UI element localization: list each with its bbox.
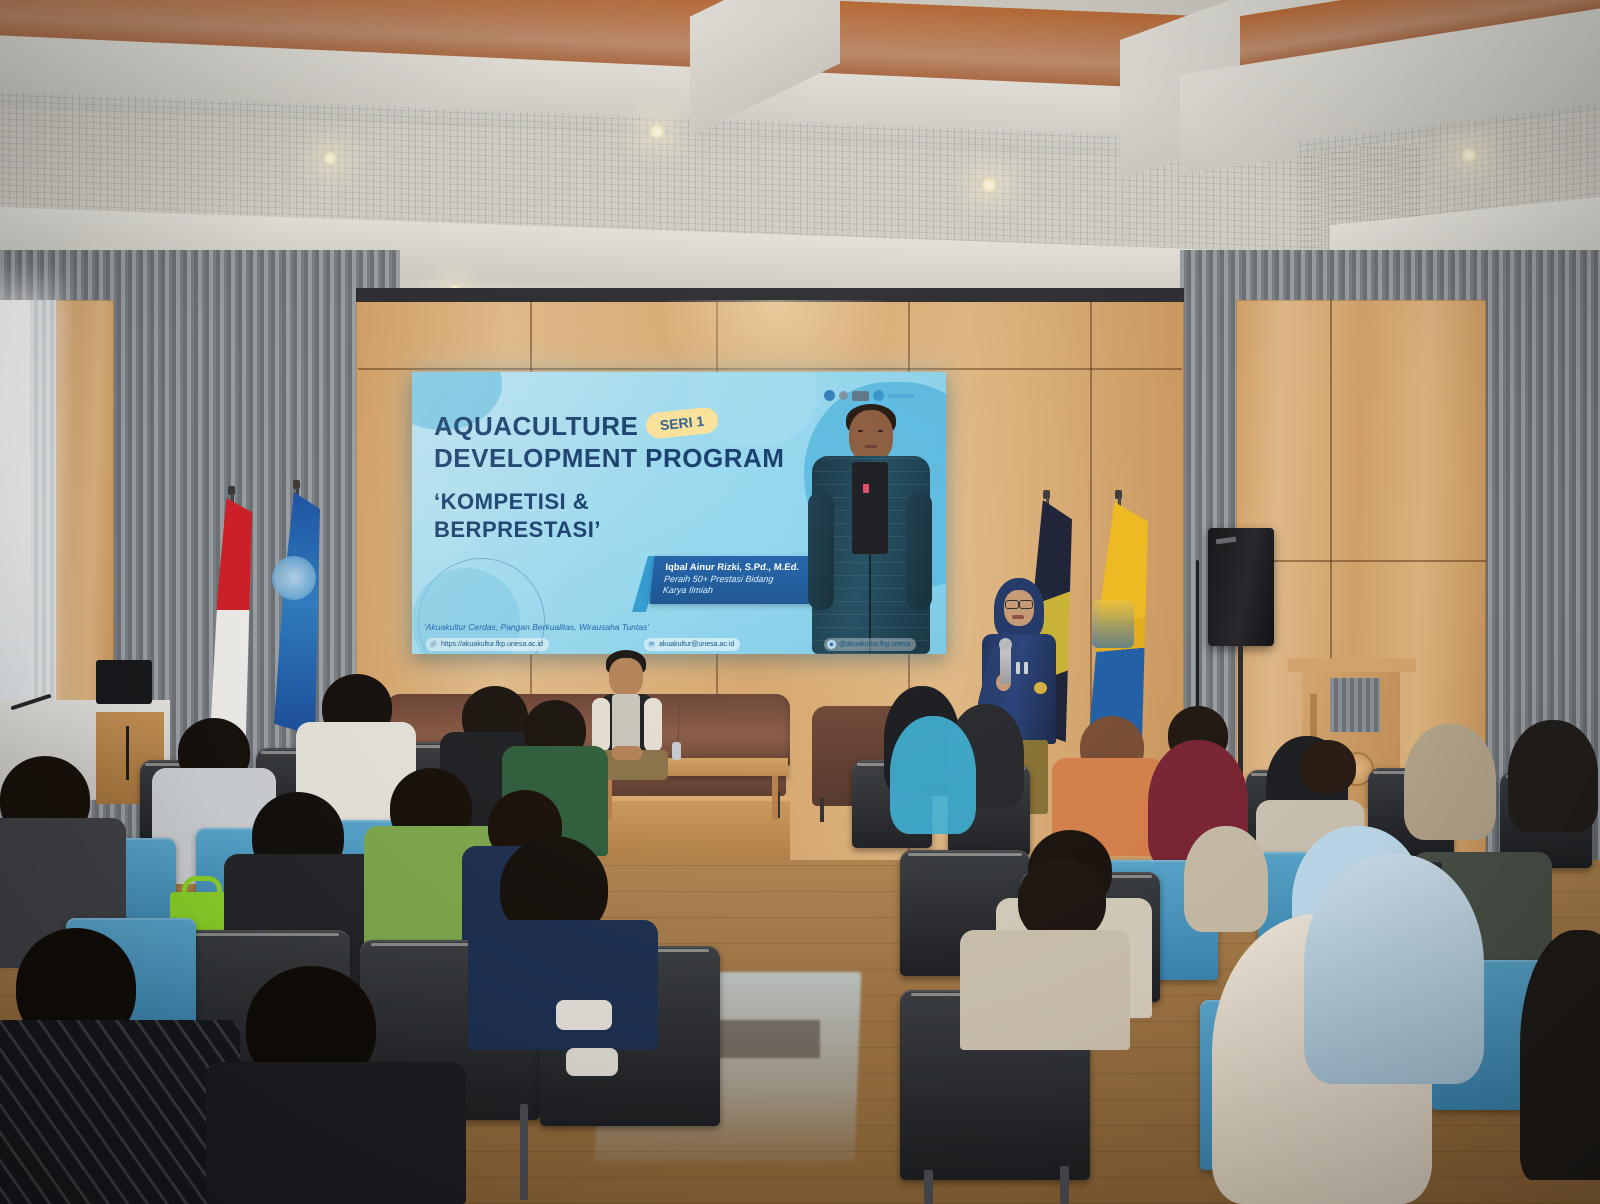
- chair-leg: [1060, 1166, 1069, 1204]
- ceiling-downlight: [1458, 148, 1480, 162]
- audience-torso: [468, 920, 658, 1050]
- instagram-icon: ◉: [827, 640, 836, 649]
- slide-title-line1: AQUACULTURE: [434, 412, 638, 440]
- slide-subtitle-line2: BERPRESTASI’: [434, 518, 601, 542]
- link-icon: 🔗: [429, 640, 438, 649]
- audience-head: [1300, 740, 1356, 794]
- window-curtain: [30, 300, 56, 730]
- audience-hijab: [1404, 724, 1496, 840]
- audience-hijab: [1304, 854, 1484, 1084]
- monitor: [96, 660, 152, 704]
- mail-icon: ✉: [647, 640, 656, 649]
- audience-hijab: [890, 716, 976, 834]
- slide-contact-website: 🔗 https://akuakultur.fkp.unesa.ac.id: [426, 638, 549, 651]
- seminar-room-photo: AQUACULTURE SERI 1 DEVELOPMENT PROGRAM ‘…: [0, 0, 1600, 1204]
- ceiling-downlight: [978, 178, 1000, 192]
- slide-tagline: ‘Akuakultur Cerdas, Pangan Berkualitas, …: [424, 622, 649, 632]
- ceiling-downlight: [320, 152, 340, 165]
- audience-torso: [960, 930, 1130, 1050]
- presenter-glasses: [1005, 600, 1019, 609]
- slide-contact-instagram: ◉ @akuakultur.fkp.unesa: [824, 638, 916, 651]
- chair-leg: [924, 1170, 933, 1204]
- audience-torso: [0, 1020, 240, 1204]
- institution-flag-emblem: [272, 556, 316, 600]
- armchair-leg: [820, 798, 824, 822]
- tote-handle: [182, 876, 222, 903]
- pa-speaker-stand: [1238, 646, 1243, 776]
- presenter-badge: [1034, 682, 1047, 694]
- audience-hijab: [1184, 826, 1268, 932]
- audience-shoe: [566, 1048, 618, 1076]
- faculty-flag-emblem: [1092, 600, 1134, 648]
- ceiling-downlight: [646, 124, 668, 139]
- audience-hijab: [1508, 720, 1598, 832]
- presenter-glasses: [1019, 600, 1033, 609]
- slide-title-line2: DEVELOPMENT PROGRAM: [434, 444, 784, 472]
- cable: [126, 726, 129, 780]
- audience-torso: [206, 1062, 466, 1204]
- chair-leg: [520, 1104, 528, 1200]
- projection-screen: AQUACULTURE SERI 1 DEVELOPMENT PROGRAM ‘…: [412, 372, 946, 654]
- slide-speaker-portrait: [804, 400, 934, 654]
- slide-subtitle-line1: ‘KOMPETISI &: [434, 490, 589, 514]
- coffee-table-leg: [772, 776, 778, 820]
- audience-shoe: [556, 1000, 612, 1030]
- pa-loudspeaker: [1208, 528, 1274, 646]
